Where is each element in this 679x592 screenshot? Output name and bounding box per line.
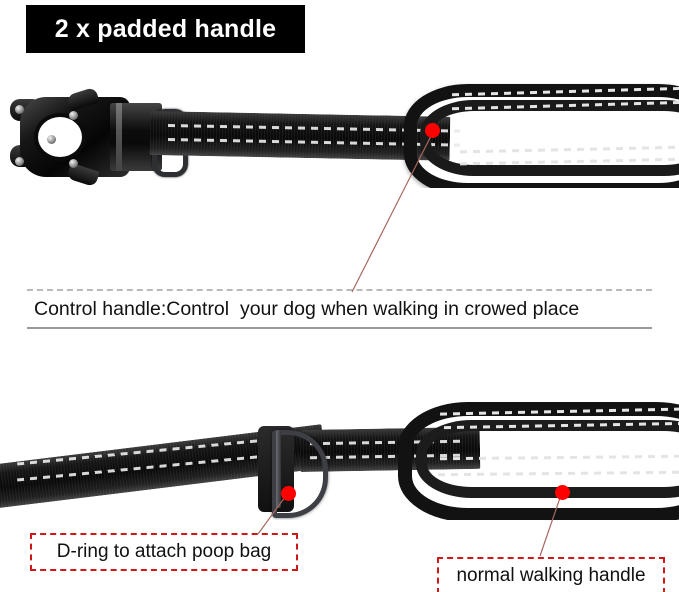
product-image-top [0,78,679,188]
clasp-eye-opening [38,117,82,157]
banner-label: 2 x padded handle [55,15,277,44]
padded-control-handle-inner-loop [420,100,679,176]
walking-handle-marker-dot [555,485,570,500]
d-ring-marker-dot [281,486,296,501]
infographic-page: 2 x padded handle [0,0,679,592]
control-handle-marker-dot [425,123,440,138]
caption-control-handle-text: Control handle:Control your dog when wal… [27,298,579,321]
metal-frog-clip-clasp-icon [6,89,166,185]
clasp-rivet [15,105,24,114]
caption-walking-handle-text: normal walking handle [448,565,653,587]
d-ring-straight-bar [276,430,281,508]
clasp-rivet [15,157,24,166]
caption-control-handle: Control handle:Control your dog when wal… [27,289,652,329]
clasp-plate-highlight [116,103,122,171]
title-banner: 2 x padded handle [26,5,305,53]
caption-d-ring-text: D-ring to attach poop bag [49,541,279,563]
clasp-rivet [69,111,78,120]
caption-walking-handle: normal walking handle [437,557,665,592]
clasp-rivet [69,159,78,168]
clasp-rivet [47,135,56,144]
caption-d-ring: D-ring to attach poop bag [30,533,298,571]
product-image-bottom [0,398,679,520]
